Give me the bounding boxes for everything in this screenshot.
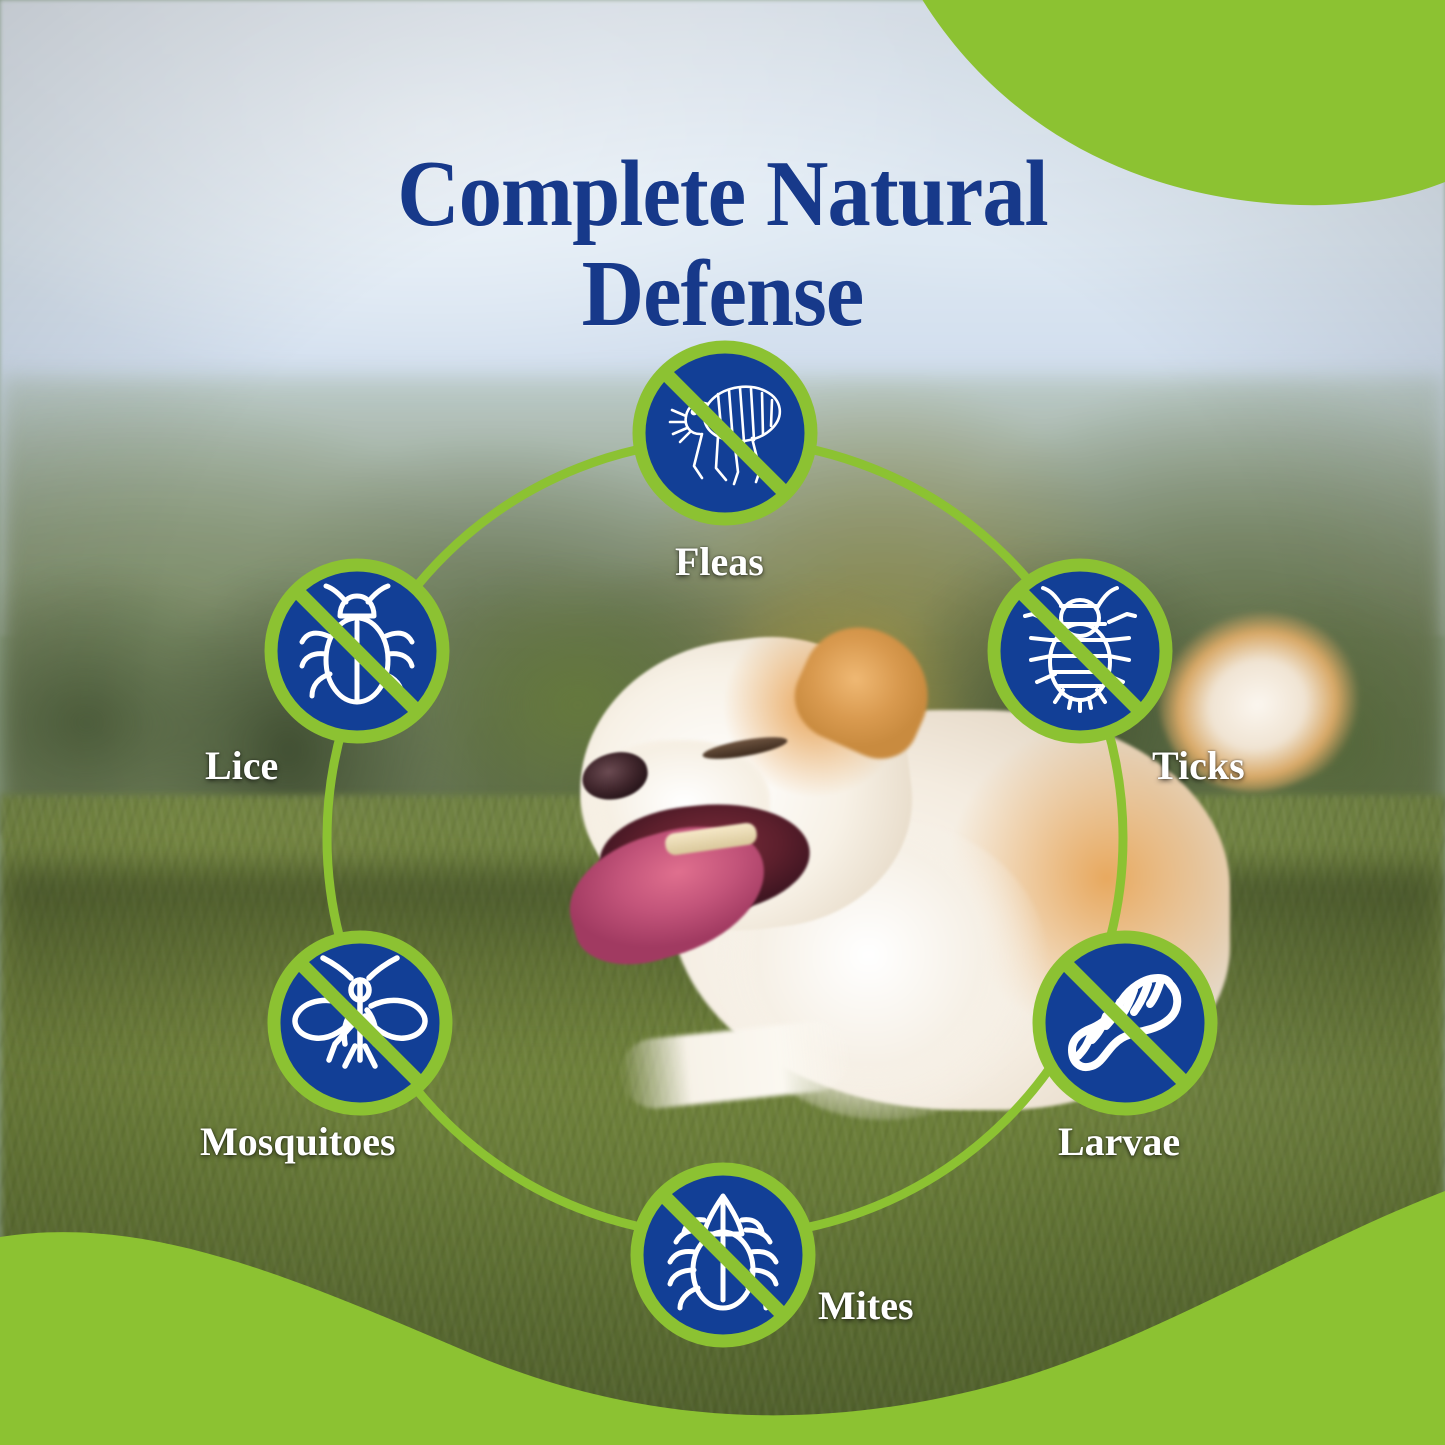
- badge-label-ticks: Ticks: [1152, 742, 1245, 789]
- page-title: Complete Natural Defense: [58, 145, 1387, 344]
- badge-fleas[interactable]: [630, 338, 820, 528]
- page-title-line-1: Complete Natural: [58, 145, 1387, 245]
- page-title-line-2: Defense: [58, 245, 1387, 345]
- mite-icon: [628, 1160, 818, 1350]
- badge-label-mosquitoes: Mosquitoes: [200, 1118, 396, 1165]
- badge-label-fleas: Fleas: [675, 538, 764, 585]
- louse-icon: [262, 556, 452, 746]
- badge-label-lice: Lice: [205, 742, 278, 789]
- badge-mosquitoes[interactable]: [265, 928, 455, 1118]
- badge-lice[interactable]: [262, 556, 452, 746]
- badge-label-mites: Mites: [818, 1282, 914, 1329]
- promo-poster: Complete Natural Defense: [0, 0, 1445, 1445]
- badge-label-larvae: Larvae: [1058, 1118, 1180, 1165]
- larva-icon: [1030, 928, 1220, 1118]
- mosquito-icon: [265, 928, 455, 1118]
- badge-larvae[interactable]: [1030, 928, 1220, 1118]
- flea-icon: [630, 338, 820, 528]
- tick-icon: [985, 556, 1175, 746]
- badge-ticks[interactable]: [985, 556, 1175, 746]
- badge-mites[interactable]: [628, 1160, 818, 1350]
